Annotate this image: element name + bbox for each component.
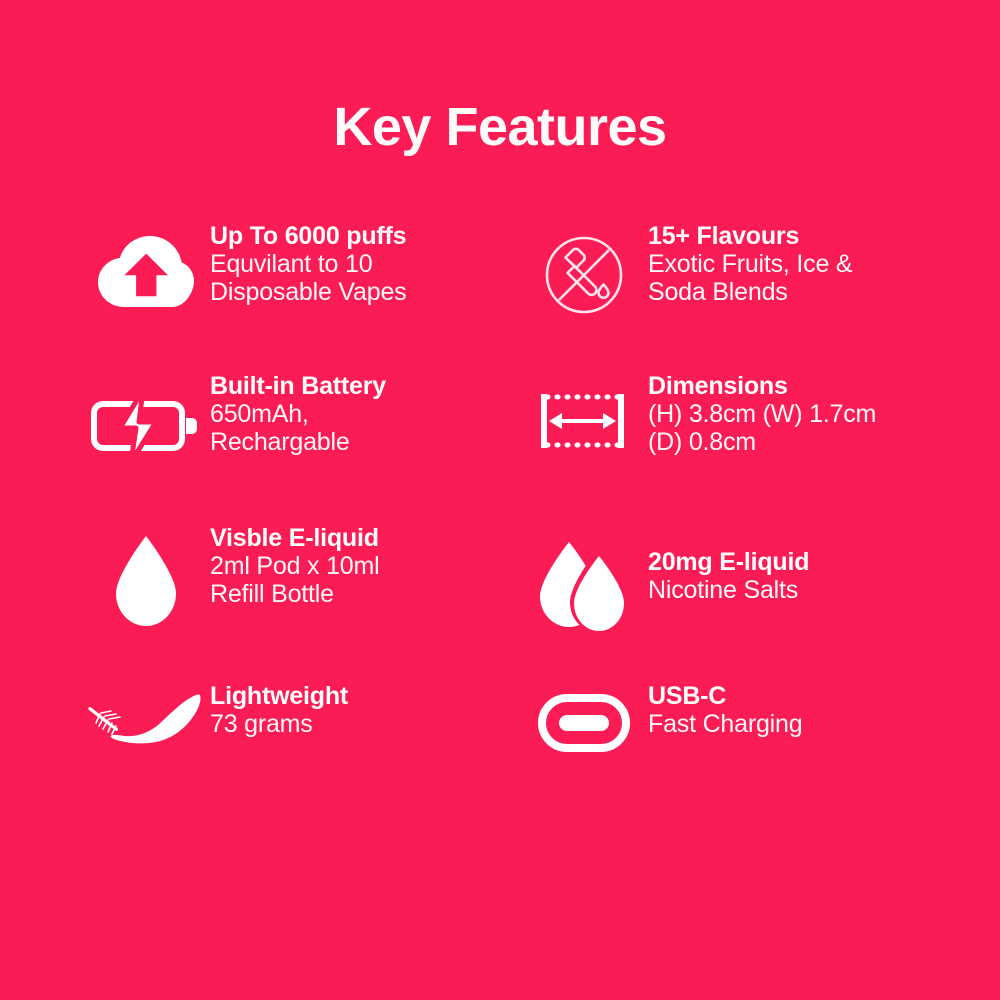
feature-text: USB-C Fast Charging [644, 676, 936, 738]
feature-description: Fast Charging [648, 710, 936, 738]
features-grid: Up To 6000 puffs Equvilant to 10 Disposa… [86, 222, 936, 796]
usb-c-icon [524, 676, 644, 752]
droplet-icon [86, 524, 206, 626]
feature-item-lightweight: Lightweight 73 grams [86, 676, 498, 796]
battery-charging-icon [86, 372, 206, 462]
feature-item-nicotine: 20mg E-liquid Nicotine Salts [524, 524, 936, 676]
feature-text: Dimensions (H) 3.8cm (W) 1.7cm (D) 0.8cm [644, 372, 936, 457]
feature-text: Visble E-liquid 2ml Pod x 10ml Refill Bo… [206, 524, 498, 609]
dimensions-arrow-icon [524, 372, 644, 450]
feature-description: (H) 3.8cm (W) 1.7cm (D) 0.8cm [648, 400, 936, 457]
feature-title: Dimensions [648, 372, 936, 400]
cloud-upload-icon [86, 222, 206, 310]
feature-title: 20mg E-liquid [648, 548, 936, 576]
feature-description: 73 grams [210, 710, 498, 738]
page-title: Key Features [0, 98, 1000, 157]
feature-title: Lightweight [210, 682, 498, 710]
feature-item-visible-eliquid: Visble E-liquid 2ml Pod x 10ml Refill Bo… [86, 524, 498, 676]
feature-text: Lightweight 73 grams [206, 676, 498, 738]
feature-description: 2ml Pod x 10ml Refill Bottle [210, 552, 498, 609]
double-droplet-icon [524, 524, 644, 634]
feature-text: Built-in Battery 650mAh, Rechargable [206, 372, 498, 457]
feature-description: 650mAh, Rechargable [210, 400, 498, 457]
feature-title: Built-in Battery [210, 372, 498, 400]
feather-icon [86, 676, 206, 754]
feature-title: 15+ Flavours [648, 222, 936, 250]
feature-title: Visble E-liquid [210, 524, 498, 552]
feature-description: Equvilant to 10 Disposable Vapes [210, 250, 498, 307]
feature-description: Exotic Fruits, Ice & Soda Blends [648, 250, 936, 307]
key-features-panel: Key Features Up To 6000 puffs Equvilant … [0, 0, 1000, 1000]
feature-item-usb-c: USB-C Fast Charging [524, 676, 936, 796]
feature-item-puffs: Up To 6000 puffs Equvilant to 10 Disposa… [86, 222, 498, 372]
feature-text: 20mg E-liquid Nicotine Salts [644, 524, 936, 604]
feature-title: USB-C [648, 682, 936, 710]
feature-title: Up To 6000 puffs [210, 222, 498, 250]
feature-item-flavours: 15+ Flavours Exotic Fruits, Ice & Soda B… [524, 222, 936, 372]
feature-description: Nicotine Salts [648, 576, 936, 604]
feature-text: Up To 6000 puffs Equvilant to 10 Disposa… [206, 222, 498, 307]
dropper-no-icon [524, 222, 644, 316]
feature-item-dimensions: Dimensions (H) 3.8cm (W) 1.7cm (D) 0.8cm [524, 372, 936, 524]
feature-item-battery: Built-in Battery 650mAh, Rechargable [86, 372, 498, 524]
feature-text: 15+ Flavours Exotic Fruits, Ice & Soda B… [644, 222, 936, 307]
